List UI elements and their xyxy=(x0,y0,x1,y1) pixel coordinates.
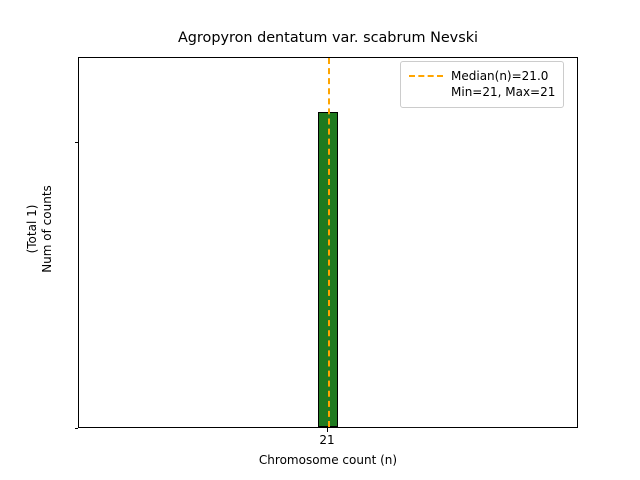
dashed-line-icon xyxy=(409,70,443,82)
legend-entry-minmax: Min=21, Max=21 xyxy=(409,84,555,100)
xtick-mark-21 xyxy=(327,428,328,432)
matplotlib-figure: Agropyron dentatum var. scabrum Nevski 0… xyxy=(0,0,640,480)
legend: Median(n)=21.0 Min=21, Max=21 xyxy=(400,61,564,108)
ytick-mark-0 xyxy=(75,428,79,429)
median-line xyxy=(328,58,330,427)
y-axis-label-line1: Num of counts xyxy=(40,185,55,273)
y-axis-label: (Total 1) Num of counts xyxy=(23,99,57,359)
chart-title: Agropyron dentatum var. scabrum Nevski xyxy=(78,30,578,47)
ytick-mark-1 xyxy=(75,142,79,143)
legend-label-minmax: Min=21, Max=21 xyxy=(451,84,555,100)
plot-area xyxy=(78,57,578,428)
y-axis-label-line2: (Total 1) xyxy=(25,205,40,254)
xtick-label-21: 21 xyxy=(319,433,334,447)
x-axis-label: Chromosome count (n) xyxy=(78,453,578,467)
legend-label-median: Median(n)=21.0 xyxy=(451,68,548,84)
legend-blank-swatch xyxy=(409,86,443,98)
legend-entry-median: Median(n)=21.0 xyxy=(409,68,555,84)
